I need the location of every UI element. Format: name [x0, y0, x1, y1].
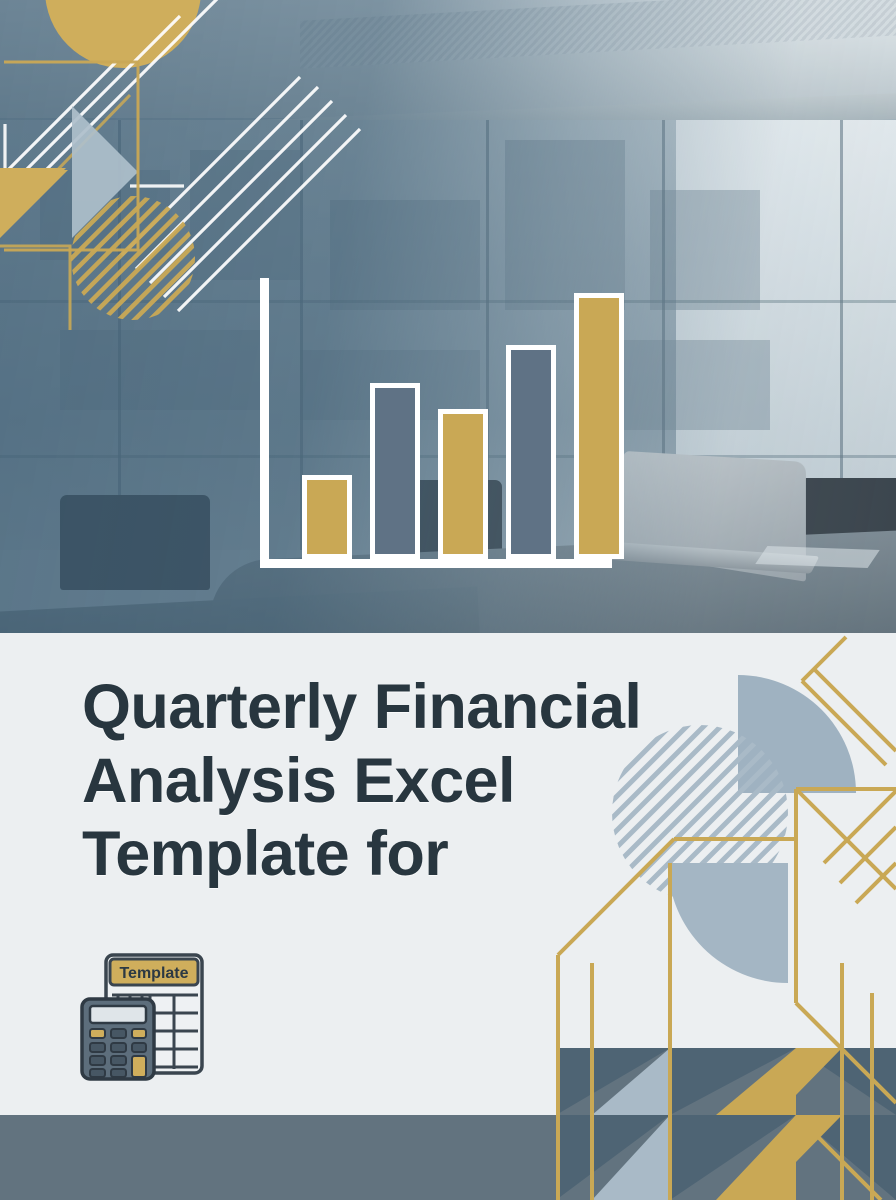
- chart-x-axis: [260, 559, 612, 568]
- title-line-3: Template for: [82, 819, 448, 889]
- calculator-key: [111, 1056, 126, 1065]
- hero-bar-chart: [260, 278, 612, 568]
- calculator-display: [90, 1006, 146, 1023]
- title-line-2: Analysis Excel: [82, 746, 515, 816]
- spreadsheet-calculator-icon: Template: [78, 951, 208, 1083]
- calculator-key: [90, 1056, 105, 1065]
- calculator-enter-key: [132, 1056, 146, 1077]
- chart-bar-4: [506, 345, 556, 559]
- calculator-key: [111, 1043, 126, 1052]
- chart-bar-1: [302, 475, 352, 559]
- calculator-key: [90, 1043, 105, 1052]
- gold-circle: [45, 0, 201, 68]
- chart-y-axis: [260, 278, 269, 568]
- page-title: Quarterly Financial Analysis Excel Templ…: [82, 671, 782, 892]
- chart-bar-3: [438, 409, 488, 559]
- calculator-key: [90, 1069, 105, 1077]
- title-line-1: Quarterly Financial: [82, 672, 641, 742]
- content-area: Quarterly Financial Analysis Excel Templ…: [0, 633, 896, 1115]
- template-banner-label: Template: [119, 965, 188, 982]
- footer-triangles: [556, 1048, 896, 1115]
- slide-page: Quarterly Financial Analysis Excel Templ…: [0, 0, 896, 1200]
- chart-bar-2: [370, 383, 420, 559]
- calculator-key: [132, 1029, 146, 1038]
- calculator-key: [90, 1029, 105, 1038]
- hero-banner: [0, 0, 896, 633]
- footer-bar: [0, 1115, 896, 1200]
- chart-bar-5: [574, 293, 624, 559]
- calculator-key: [111, 1029, 126, 1038]
- calculator-key: [132, 1043, 146, 1052]
- footer-decoration-group: [556, 1115, 896, 1200]
- calculator-key: [111, 1069, 126, 1077]
